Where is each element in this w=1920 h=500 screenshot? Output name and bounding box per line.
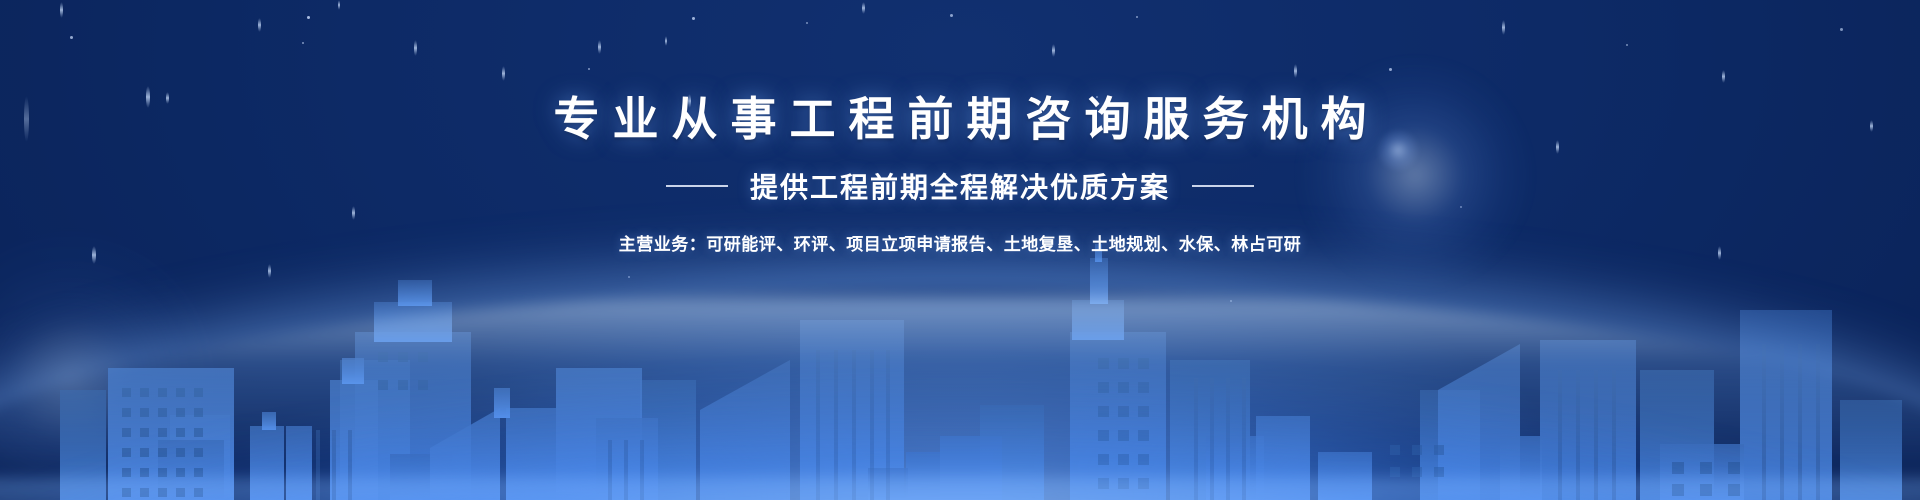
star-streak — [1722, 70, 1725, 83]
star-streak — [1294, 64, 1297, 78]
star-dot — [307, 16, 310, 19]
banner-content: 专业从事工程前期咨询服务机构 提供工程前期全程解决优质方案 主营业务：可研能评、… — [0, 96, 1920, 255]
star-dot — [1840, 28, 1843, 31]
city-skyline — [0, 240, 1920, 500]
star-streak — [338, 0, 340, 10]
star-dot — [1136, 16, 1138, 18]
star-streak — [414, 40, 417, 56]
divider-dash-left-icon — [666, 185, 728, 187]
star-streak — [502, 66, 505, 81]
star-streak — [60, 2, 63, 18]
star-dot — [806, 22, 808, 24]
star-streak — [1502, 20, 1505, 35]
star-streak — [862, 2, 865, 14]
star-streak — [598, 40, 601, 54]
star-dot — [70, 36, 73, 39]
subheadline-row: 提供工程前期全程解决优质方案 — [0, 166, 1920, 206]
banner-headline: 专业从事工程前期咨询服务机构 — [0, 96, 1920, 142]
star-streak — [665, 36, 667, 46]
star-streak — [258, 18, 261, 32]
star-dot — [1626, 44, 1628, 46]
banner-business-line: 主营业务：可研能评、环评、项目立项申请报告、土地复垦、土地规划、水保、林占可研 — [0, 230, 1920, 255]
hero-banner: 专业从事工程前期咨询服务机构 提供工程前期全程解决优质方案 主营业务：可研能评、… — [0, 0, 1920, 500]
star-dot — [950, 14, 953, 17]
star-dot — [1389, 68, 1392, 71]
star-dot — [692, 17, 695, 20]
star-dot — [302, 42, 304, 44]
banner-subheadline: 提供工程前期全程解决优质方案 — [750, 166, 1170, 206]
star-streak — [1052, 44, 1055, 57]
divider-dash-right-icon — [1192, 185, 1254, 187]
skyline-svg — [0, 240, 1920, 500]
star-dot — [588, 68, 590, 70]
